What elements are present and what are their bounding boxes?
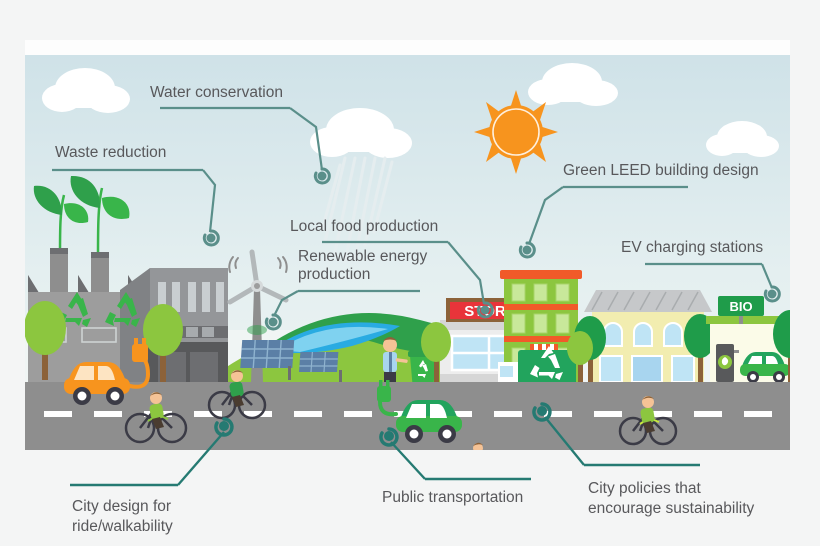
left-margin <box>0 0 25 546</box>
bio-sign-text: BIO <box>729 299 752 314</box>
label-city-policies-line2: encourage sustainability <box>588 500 755 517</box>
label-renewable-energy-line1: Renewable energy <box>298 248 428 265</box>
label-city-policies-line1: City policies that <box>588 480 702 497</box>
label-city-design-line1: City design for <box>72 498 171 515</box>
label-ev-charging-stations: EV charging stations <box>621 239 763 256</box>
label-water-conservation: Water conservation <box>150 84 283 101</box>
sun-icon <box>474 90 558 174</box>
label-renewable-energy-line2: production <box>298 266 370 283</box>
label-city-design-line2: ride/walkability <box>72 518 173 535</box>
label-waste-reduction: Waste reduction <box>55 144 166 161</box>
label-green-leed-building-design: Green LEED building design <box>563 162 759 179</box>
infographic-canvas: STORE <box>0 0 820 546</box>
top-margin <box>0 0 820 40</box>
label-public-transportation: Public transportation <box>382 489 523 506</box>
sustainable-city-scene: STORE <box>0 0 820 546</box>
top-white-band <box>25 40 790 55</box>
right-margin <box>790 0 820 546</box>
label-local-food-production: Local food production <box>290 218 438 235</box>
